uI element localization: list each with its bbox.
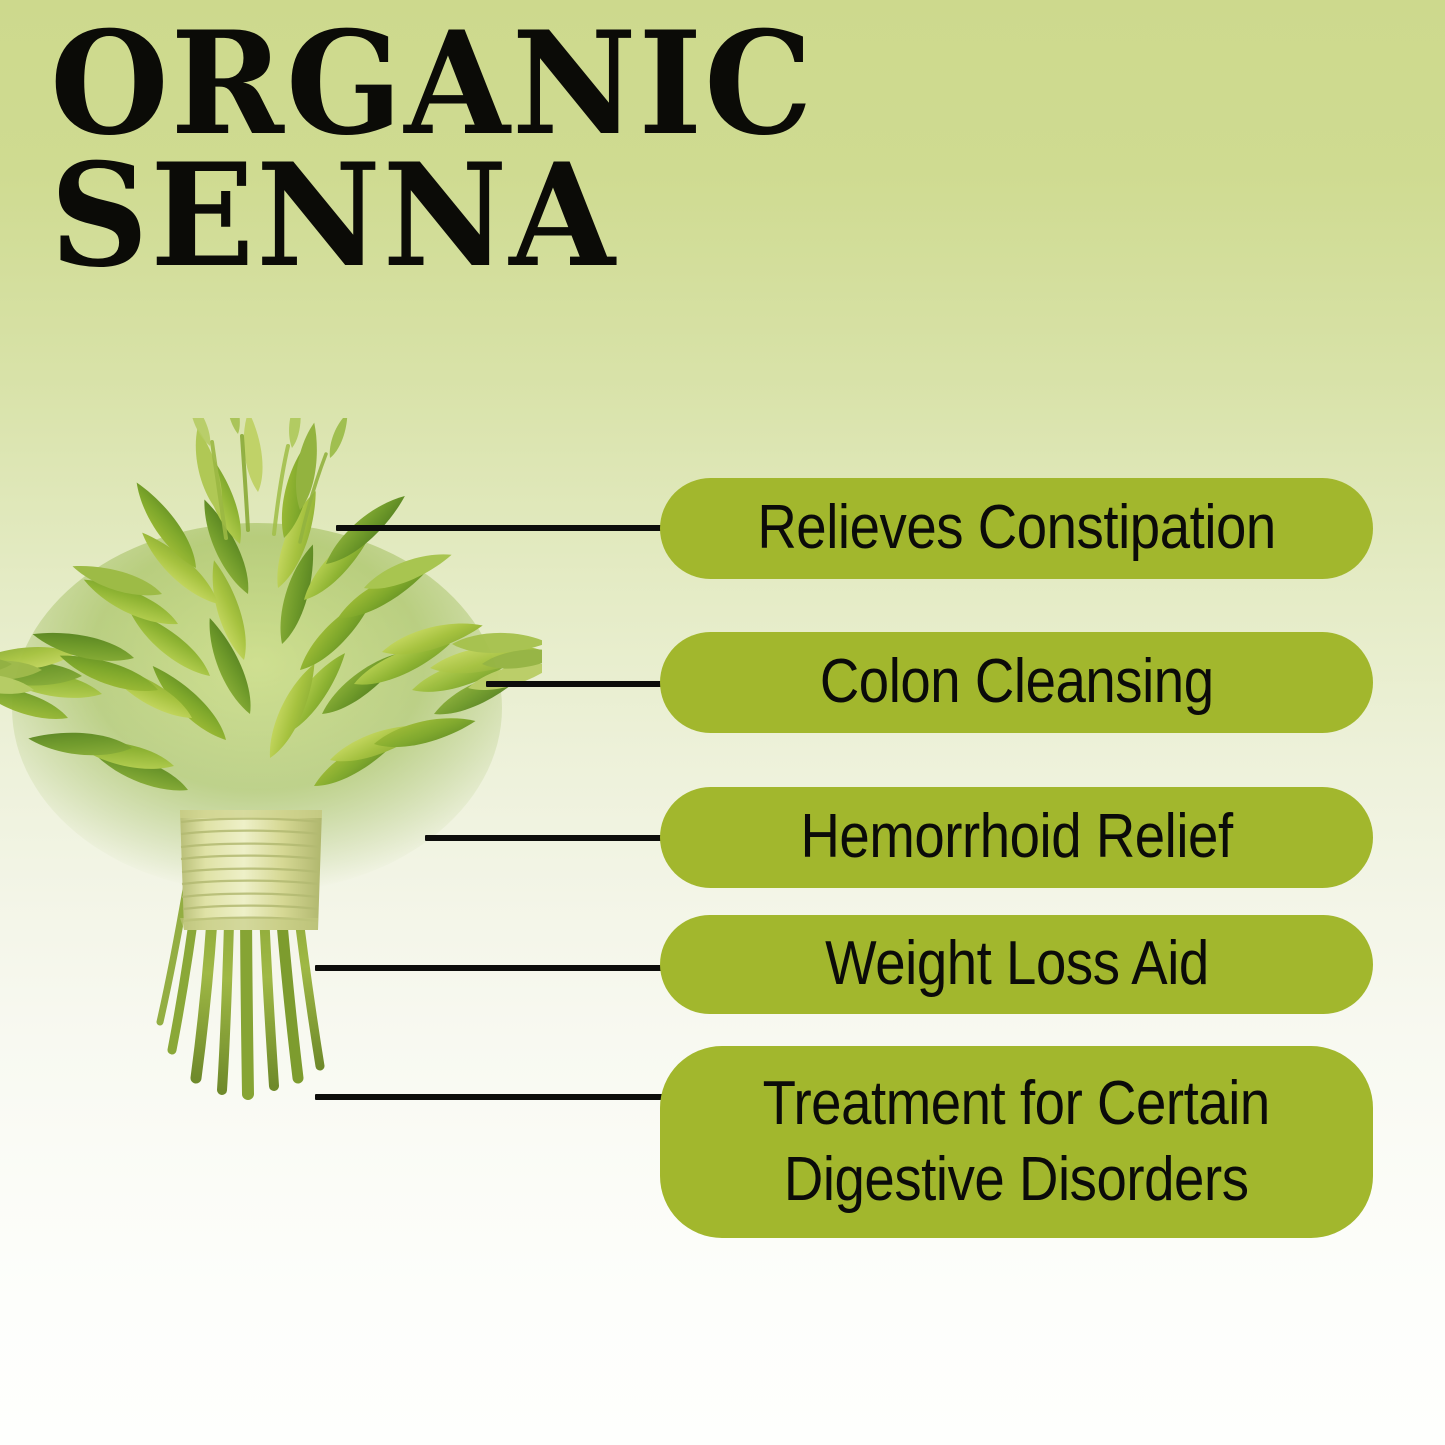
leader-line-1 [336, 525, 666, 531]
benefit-label: Treatment for Certain Digestive Disorder… [749, 1066, 1284, 1217]
bouquet-fronds [0, 631, 542, 730]
bouquet-stems [160, 884, 320, 1094]
leader-line-4 [315, 965, 668, 971]
benefit-pill-digestive-disorders[interactable]: Treatment for Certain Digestive Disorder… [660, 1046, 1373, 1238]
benefit-label: Relieves Constipation [743, 495, 1290, 562]
benefit-pill-hemorrhoid-relief[interactable]: Hemorrhoid Relief [660, 787, 1373, 888]
benefit-pill-weight-loss-aid[interactable]: Weight Loss Aid [660, 915, 1373, 1014]
bouquet-leaves-lower [27, 712, 478, 802]
benefit-pill-colon-cleansing[interactable]: Colon Cleansing [660, 632, 1373, 733]
benefit-label: Hemorrhoid Relief [786, 804, 1246, 871]
leader-line-3 [425, 835, 668, 841]
page-title: Organic Senna [50, 18, 837, 282]
raffia-wrap [180, 810, 322, 930]
poster-canvas: Organic Senna [0, 0, 1445, 1445]
bouquet-sprigs [212, 436, 326, 542]
benefit-pill-relieves-constipation[interactable]: Relieves Constipation [660, 478, 1373, 579]
leader-line-5 [315, 1094, 668, 1100]
leader-line-2 [486, 681, 668, 687]
benefit-label: Weight Loss Aid [811, 931, 1223, 998]
bouquet-leaves-mid [30, 542, 485, 762]
bouquet-sprig-leaves [186, 418, 353, 460]
benefit-label: Colon Cleansing [806, 649, 1228, 716]
